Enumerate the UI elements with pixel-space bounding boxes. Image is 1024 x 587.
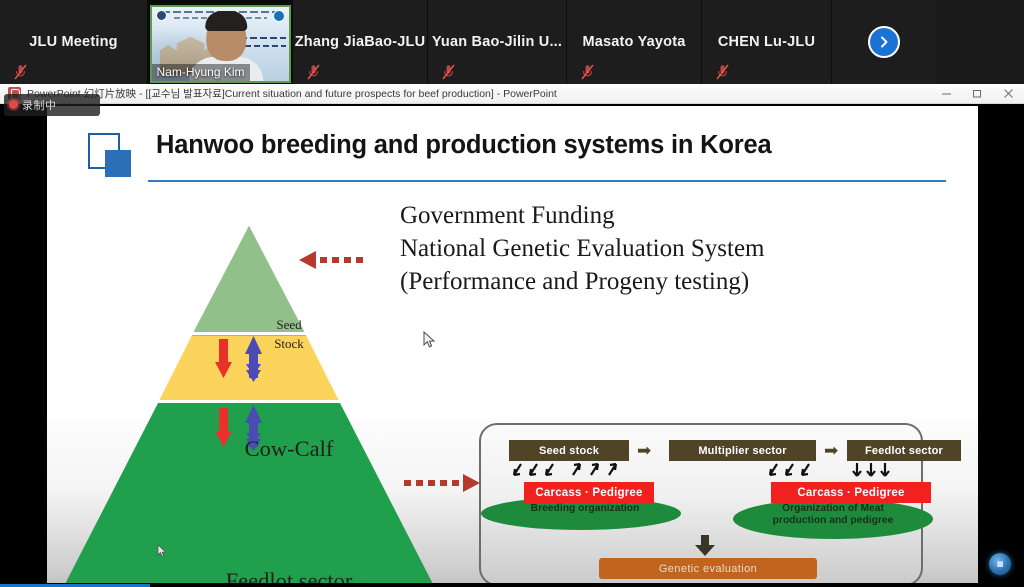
stage-arrow-icon-1: ➡ [637, 442, 651, 459]
participant-name: Yuan Bao-Jilin U... [432, 34, 562, 50]
participant-name: CHEN Lu-JLU [718, 34, 815, 50]
participant-name: Zhang JiaBao-JLU [295, 34, 426, 50]
slide-canvas: Hanwoo breeding and production systems i… [47, 106, 978, 587]
badge-glyph: ▦ [997, 560, 1003, 568]
participant-tile-zhang-jiabao[interactable]: Zhang JiaBao-JLU [293, 0, 428, 84]
mic-muted-icon [307, 64, 320, 80]
zoom-badge-icon[interactable]: ▦ [989, 553, 1011, 575]
screen-root: JLU Meeting [0, 0, 1024, 587]
pyramid-middle-label: Cow-Calf [199, 436, 379, 462]
stage-box-seed-stock: Seed stock [509, 440, 629, 461]
university-logo-right-icon [273, 10, 285, 22]
presenter-hair [205, 11, 247, 31]
video-feed: Nam-Hyung Kim [150, 5, 291, 83]
pyramid-top-label: Seed Stock [234, 316, 344, 354]
recording-dot-icon [9, 100, 18, 109]
dotted-arrow-left-to-seedstock [299, 249, 371, 276]
data-flow-arrows-left [511, 462, 631, 482]
mouse-cursor-secondary [157, 544, 167, 563]
breeding-organization-label: Breeding organization [495, 503, 675, 515]
stage-box-multiplier-sector: Multiplier sector [669, 440, 816, 461]
carcass-pedigree-right: Carcass · Pedigree [771, 482, 931, 503]
stage-arrow-icon-2: ➡ [824, 442, 838, 459]
production-pyramid-diagram: Seed Stock Cow-Calf Feedlot sector ▪ Fee… [49, 186, 449, 586]
mic-muted-icon [716, 64, 729, 80]
stage-box-feedlot-sector: Feedlot sector [847, 440, 961, 461]
chevron-right-icon[interactable] [868, 26, 900, 58]
filmstrip-next-page-button[interactable] [832, 0, 936, 84]
slide-title: Hanwoo breeding and production systems i… [156, 131, 956, 160]
minimize-button[interactable] [931, 84, 962, 104]
close-button[interactable] [993, 84, 1024, 104]
recording-label: 录制中 [22, 97, 57, 113]
mic-muted-icon [442, 64, 455, 80]
participant-tile-chen-lu[interactable]: CHEN Lu-JLU [702, 0, 832, 84]
genetic-evaluation-panel: Seed stock ➡ Multiplier sector ➡ Feedlot… [479, 423, 923, 586]
participant-name: Nam-Hyung Kim [152, 64, 250, 81]
participant-name: Masato Yayota [582, 34, 685, 50]
data-flow-arrows-right [851, 462, 911, 482]
participant-tile-masato-yayota[interactable]: Masato Yayota [567, 0, 702, 84]
mouse-cursor-primary [423, 331, 436, 354]
recording-indicator[interactable]: 录制中 [4, 94, 100, 116]
genetic-evaluation-result: Genetic evaluation [599, 558, 817, 579]
taskbar-sliver [0, 583, 1024, 587]
participant-tile-active-speaker[interactable]: Nam-Hyung Kim [148, 0, 293, 84]
data-flow-arrows-middle [767, 462, 827, 482]
meat-organization-label: Organization of Meat production and pedi… [743, 503, 923, 528]
participant-tile-jlu-meeting[interactable]: JLU Meeting [0, 0, 148, 84]
carcass-pedigree-left: Carcass · Pedigree [524, 482, 654, 503]
window-title: PowerPoint 幻灯片放映 - [[교수님 발표자료]Current si… [27, 86, 557, 101]
title-underline-rule [148, 180, 946, 182]
zoom-participant-filmstrip: JLU Meeting [0, 0, 1024, 84]
mic-muted-icon [581, 64, 594, 80]
restore-button[interactable] [962, 84, 993, 104]
participant-name: JLU Meeting [29, 34, 117, 50]
window-titlebar[interactable]: PowerPoint 幻灯片放映 - [[교수님 발표자료]Current si… [0, 84, 1024, 104]
powerpoint-window: PowerPoint 幻灯片放映 - [[교수님 발표자료]Current si… [0, 84, 1024, 587]
government-funding-text: Government Funding National Genetic Eval… [400, 199, 820, 298]
mic-muted-icon [14, 64, 27, 80]
dotted-arrow-right-to-panel [402, 472, 482, 499]
slideshow-stage[interactable]: Hanwoo breeding and production systems i… [0, 104, 1024, 587]
university-logo-left-icon [156, 10, 167, 21]
title-square-filled-icon [105, 150, 131, 177]
down-arrow-to-genetic-evaluation-icon [693, 535, 717, 557]
window-controls [931, 84, 1024, 104]
participant-tile-yuan-bao[interactable]: Yuan Bao-Jilin U... [428, 0, 567, 84]
